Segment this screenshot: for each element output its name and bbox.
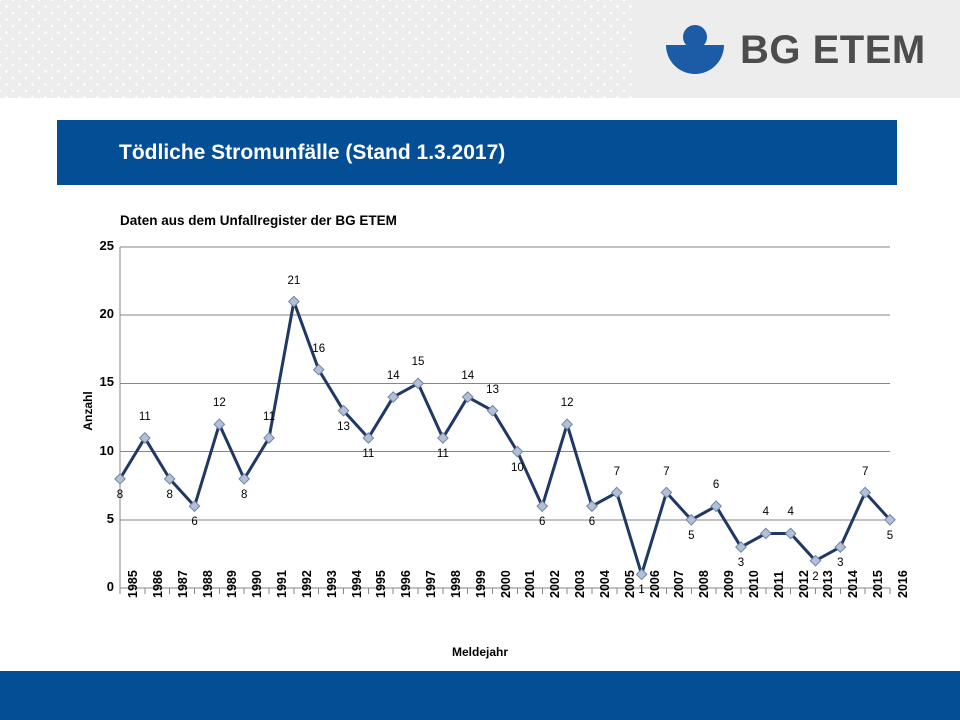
- data-point-marker[interactable]: [636, 569, 646, 579]
- x-axis-tick-label: 1989: [225, 570, 239, 598]
- data-point-label: 12: [206, 397, 232, 409]
- data-point-label: 4: [778, 506, 804, 518]
- data-point-label: 7: [604, 466, 630, 478]
- x-axis-tick-label: 1993: [325, 570, 339, 598]
- x-axis-tick-label: 1997: [424, 570, 438, 598]
- x-axis-tick-label: 1992: [300, 570, 314, 598]
- data-point-label: 1: [629, 584, 655, 596]
- x-axis-tick-label: 1987: [176, 570, 190, 598]
- data-point-label: 14: [380, 370, 406, 382]
- x-axis-tick-label: 2003: [573, 570, 587, 598]
- data-point-label: 11: [430, 448, 456, 460]
- x-axis-tick-label: 1995: [374, 570, 388, 598]
- data-point-marker[interactable]: [214, 419, 224, 429]
- data-point-label: 6: [579, 516, 605, 528]
- data-point-label: 6: [703, 479, 729, 491]
- x-axis-tick-label: 1986: [151, 570, 165, 598]
- data-point-label: 8: [157, 489, 183, 501]
- y-axis-tick-label: 20: [80, 306, 114, 321]
- data-point-label: 13: [480, 384, 506, 396]
- y-axis-tick-label: 25: [80, 238, 114, 253]
- x-axis-tick-label: 2015: [871, 570, 885, 598]
- data-point-label: 8: [231, 489, 257, 501]
- data-point-label: 11: [132, 411, 158, 423]
- data-point-label: 15: [405, 356, 431, 368]
- line-chart: 0510152025198519861987198819891990199119…: [0, 0, 960, 720]
- x-axis-tick-label: 1994: [350, 570, 364, 598]
- data-point-label: 6: [529, 516, 555, 528]
- x-axis-tick-label: 2009: [722, 570, 736, 598]
- x-axis-tick-label: 1996: [399, 570, 413, 598]
- footer-bar: [0, 671, 960, 720]
- data-point-marker[interactable]: [537, 501, 547, 511]
- data-point-label: 6: [182, 516, 208, 528]
- data-point-label: 3: [728, 557, 754, 569]
- data-point-label: 7: [852, 466, 878, 478]
- data-point-marker[interactable]: [289, 296, 299, 306]
- data-point-label: 11: [256, 411, 282, 423]
- x-axis-tick-label: 2011: [772, 571, 786, 598]
- x-axis-tick-label: 1988: [201, 570, 215, 598]
- data-point-label: 5: [877, 530, 903, 542]
- data-point-label: 16: [306, 343, 332, 355]
- data-point-label: 8: [107, 489, 133, 501]
- data-point-label: 4: [753, 506, 779, 518]
- x-axis-tick-label: 2016: [896, 570, 910, 598]
- data-point-marker[interactable]: [562, 419, 572, 429]
- x-axis-tick-label: 2007: [672, 570, 686, 598]
- x-axis-tick-label: 1998: [449, 570, 463, 598]
- x-axis-tick-label: 2000: [499, 570, 513, 598]
- x-axis-tick-label: 2001: [523, 570, 537, 598]
- x-axis-tick-label: 1985: [126, 570, 140, 598]
- data-series-line: [120, 302, 890, 575]
- y-axis-tick-label: 5: [80, 511, 114, 526]
- data-point-label: 21: [281, 275, 307, 287]
- data-point-label: 10: [504, 462, 530, 474]
- data-point-label: 12: [554, 397, 580, 409]
- y-axis-tick-label: 10: [80, 443, 114, 458]
- chart-canvas: [0, 0, 960, 720]
- x-axis-tick-label: 1990: [250, 570, 264, 598]
- x-axis-tick-label: 2014: [846, 570, 860, 598]
- data-point-label: 13: [331, 421, 357, 433]
- x-axis-tick-label: 1991: [275, 570, 289, 598]
- data-point-label: 5: [678, 530, 704, 542]
- data-point-label: 2: [802, 571, 828, 583]
- x-axis-tick-label: 2008: [697, 570, 711, 598]
- x-axis-tick-label: 1999: [474, 570, 488, 598]
- y-axis-tick-label: 15: [80, 374, 114, 389]
- data-point-label: 14: [455, 370, 481, 382]
- x-axis-tick-label: 2010: [747, 570, 761, 598]
- x-axis-tick-label: 2002: [548, 570, 562, 598]
- data-point-label: 3: [827, 557, 853, 569]
- data-point-label: 11: [355, 448, 381, 460]
- y-axis-tick-label: 0: [80, 579, 114, 594]
- data-point-label: 7: [653, 466, 679, 478]
- x-axis-tick-label: 2004: [598, 570, 612, 598]
